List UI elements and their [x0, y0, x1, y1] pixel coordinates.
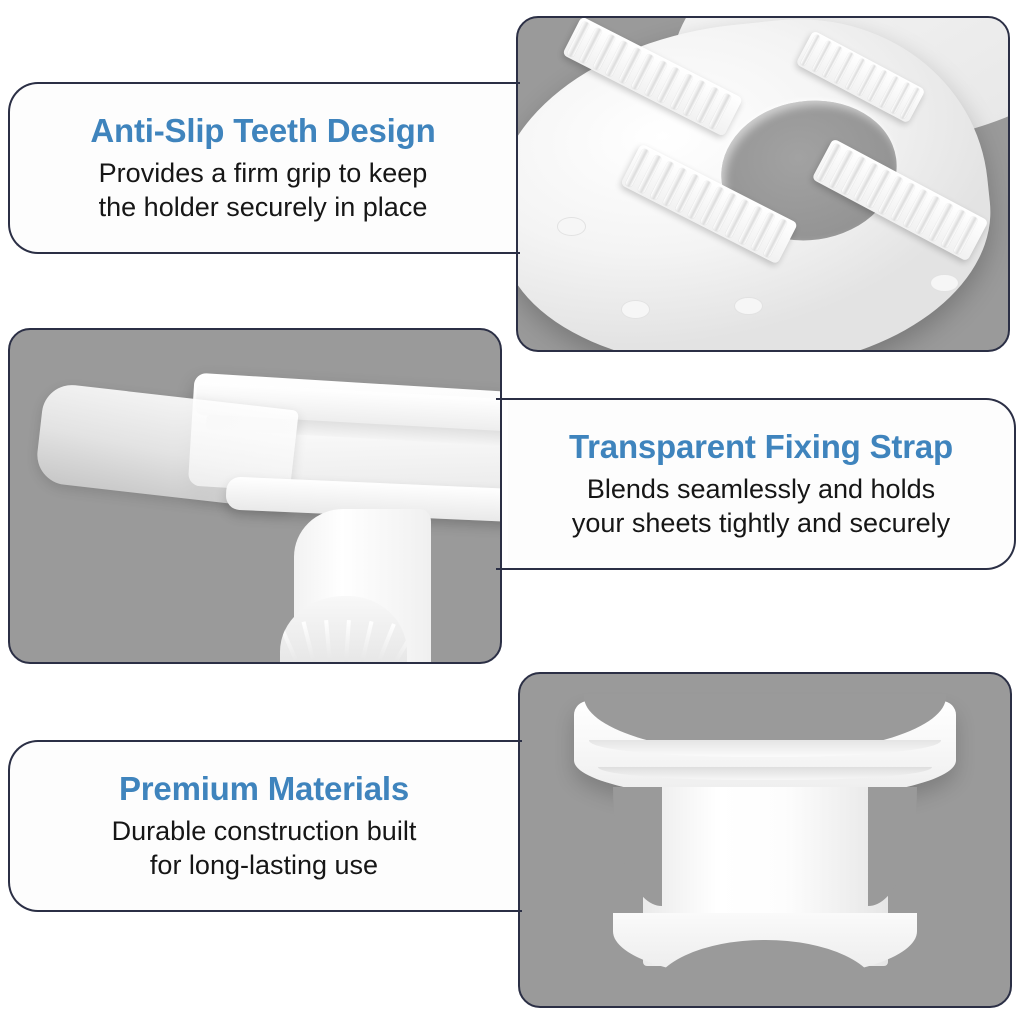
product-photo-anti-slip-teeth	[516, 16, 1010, 352]
connector-rail-top	[508, 82, 520, 84]
anti-slip-teeth-scene	[518, 18, 1008, 350]
feature-title: Transparent Fixing Strap	[569, 428, 953, 466]
feature-card-transparent-strap: Transparent Fixing Strap Blends seamless…	[508, 398, 1016, 570]
product-photo-premium-materials	[518, 672, 1012, 1008]
holder-right-shoulder-cut	[868, 787, 917, 907]
connector-rail-top	[510, 740, 522, 742]
feature-card-anti-slip-teeth: Anti-Slip Teeth Design Provides a firm g…	[8, 82, 516, 254]
feature-description: Blends seamlessly and holds your sheets …	[572, 472, 950, 540]
product-photo-transparent-strap	[8, 328, 502, 664]
plate-screw-mark	[557, 217, 586, 236]
premium-materials-scene	[520, 674, 1010, 1006]
plate-screw-mark	[930, 274, 959, 293]
feature-title: Anti-Slip Teeth Design	[90, 112, 435, 150]
transparent-strap-scene	[10, 330, 500, 662]
feature-card-premium-materials: Premium Materials Durable construction b…	[8, 740, 518, 912]
feature-title: Premium Materials	[119, 770, 409, 808]
connector-rail-bottom	[510, 910, 522, 912]
infographic-canvas: Anti-Slip Teeth Design Provides a firm g…	[0, 0, 1024, 1024]
feature-description: Durable construction built for long-last…	[112, 814, 417, 882]
connector-rail-bottom	[508, 252, 520, 254]
connector-rail-top	[496, 398, 510, 400]
feature-description: Provides a firm grip to keep the holder …	[99, 156, 428, 224]
connector-rail-bottom	[496, 568, 510, 570]
plate-screw-mark	[621, 300, 650, 319]
plate-screw-mark	[734, 297, 763, 316]
holder-left-shoulder-cut	[613, 787, 662, 907]
